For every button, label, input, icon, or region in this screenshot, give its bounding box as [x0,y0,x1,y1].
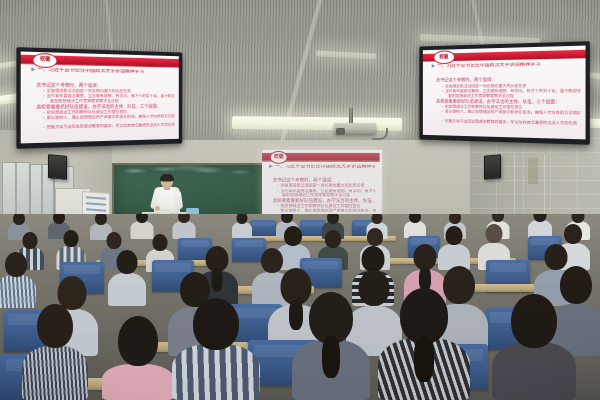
attendee [102,316,174,400]
left-flatpanel-display: 校徽 ▶一、习近平总书记在中国政法大学讲话精神学习 总书记这个考察时，两个强调：… [16,47,182,149]
attendee-ponytail [414,336,434,382]
slide-title: ▶一、习近平总书记在中国政法大学讲话精神学习 [432,62,579,70]
slide-section-2: 高校要着重抓好队伍建设，办学法治的主体、队伍，三个层面： [273,198,374,203]
slide-bullet: 全面推进依法治国是一项长期而重大的历史任务 [277,184,376,189]
lecture-hall-photo: 校徽 ▶一、习近平总书记在中国政法大学讲话精神学习 总书记这个考察时，两个强调：… [0,0,600,400]
chair [250,220,276,236]
attendee-head [284,226,302,246]
attendee-head [117,250,138,274]
attendee-head [23,232,38,249]
bullet-marker-icon: ▶ [269,164,273,169]
attendee [378,288,470,400]
attendee-head [193,298,239,350]
attendee-head [564,224,582,244]
bullet-marker-icon: ▶ [31,67,35,72]
attendee [22,304,88,400]
slide-title-text: 一、习近平总书记在中国政法大学讲话精神学习 [437,62,541,69]
shirt-stripes [22,346,88,400]
slide-section-2: 高校要着重抓好队伍建设，办学法治的主体、队伍，三个层面： [436,98,576,104]
attendee-head [5,252,27,277]
attendee-head [107,232,122,249]
eyeglasses-icon [162,180,172,182]
slide-section-1: 总书记这个考察时，两个强调： [436,77,576,83]
slide-content: 校徽 ▶一、习近平总书记在中国政法大学讲话精神学习 总书记这个考察时，两个强调：… [423,46,586,140]
attendee [0,252,36,308]
attendee-torso [232,222,252,238]
university-logo-icon: 校徽 [270,151,287,164]
bullet-marker-icon: ▶ [432,63,436,69]
slide-bullet: 把思想政治工作和教师队伍建设工作摆在首位 [277,204,376,209]
attendee-head [237,214,248,224]
attendee-torso [22,346,88,400]
attendee-head [486,224,503,243]
attendee-head [63,230,78,247]
slide-content: 校徽 ▶一、习近平总书记在中国政法大学讲话精神学习 总书记这个考察时，两个强调：… [21,51,179,143]
attendee-head [118,316,158,366]
slide-bullet: 把握大局与适应思想政治教育的要求，牢记培养德法兼修的法治人才的任务 [43,123,174,130]
wall-fixture [528,158,538,184]
slide-bullet: 把握大局与适应思想政治教育的要求，牢记培养德法兼修的法治人才的任务 [442,119,580,126]
slide-title: ▶一、习近平总书记在中国政法大学讲话精神学习 [269,164,375,170]
projector-lens [336,128,345,135]
attendee [404,214,426,238]
attendee-torso [172,221,195,239]
attendee [292,292,370,400]
attendee-head [367,228,383,246]
attendee [172,298,260,400]
attendee-head [37,304,73,348]
attendee-torso [492,342,576,400]
slide-title-text: 一、习近平总书记在中国政法大学讲话精神学习 [38,67,144,74]
attendee [172,214,195,239]
audience-area [0,214,600,400]
attendee [108,250,146,306]
attendee-head [371,214,382,224]
slide-bullet: 要以德树人、端正思想理念的严肃意识和责任担当，确保人才培养的方式和质量提升 [277,209,376,214]
slide-section-1: 总书记这个考察时，两个强调： [273,178,374,183]
right-flatpanel-display: 校徽 ▶一、习近平总书记在中国政法大学讲话精神学习 总书记这个考察时，两个强调：… [419,41,590,145]
projector-mount-pole [349,108,353,124]
slide-section-1: 总书记这个考察时，两个强调： [36,82,171,88]
attendee [492,294,576,400]
slide-bullet: 要以德树人、端正思想理念的严肃意识和责任担当，确保人才培养的方式和质量提升 [43,114,174,120]
attendee-head [511,294,557,348]
wall-speaker-right [484,154,501,179]
attendee-head [13,214,25,225]
attendee [232,214,252,238]
slide-title-text: 一、习近平总书记在中国政法大学讲话精神学习 [275,164,375,169]
slide-bullet: 要以德树人、端正思想理念的严肃意识和责任担当，确保人才培养的方式和质量提升 [442,110,580,116]
attendee-torso [172,344,260,400]
attendee-torso [102,364,174,400]
attendee-ponytail [322,336,340,378]
wall-speaker-left [48,154,67,180]
attendee-head [446,226,463,245]
university-logo-icon: 校徽 [33,53,57,67]
shirt-stripes [172,344,260,400]
display-panel: 校徽 ▶一、习近平总书记在中国政法大学讲话精神学习 总书记这个考察时，两个强调：… [21,51,179,143]
attendee-head [153,234,168,251]
university-logo-icon: 校徽 [433,51,454,65]
attendee-torso [108,273,146,306]
attendee-head [95,214,107,225]
slide-bullet: 全面推进依法治国是一项长期而重大的历史任务 [442,83,580,88]
slide-title: ▶一、习近平总书记在中国政法大学讲话精神学习 [31,67,173,75]
attendee-head [325,230,341,248]
presenter-arm [175,191,183,210]
display-panel: 校徽 ▶一、习近平总书记在中国政法大学讲话精神学习 总书记这个考察时，两个强调：… [423,46,586,140]
